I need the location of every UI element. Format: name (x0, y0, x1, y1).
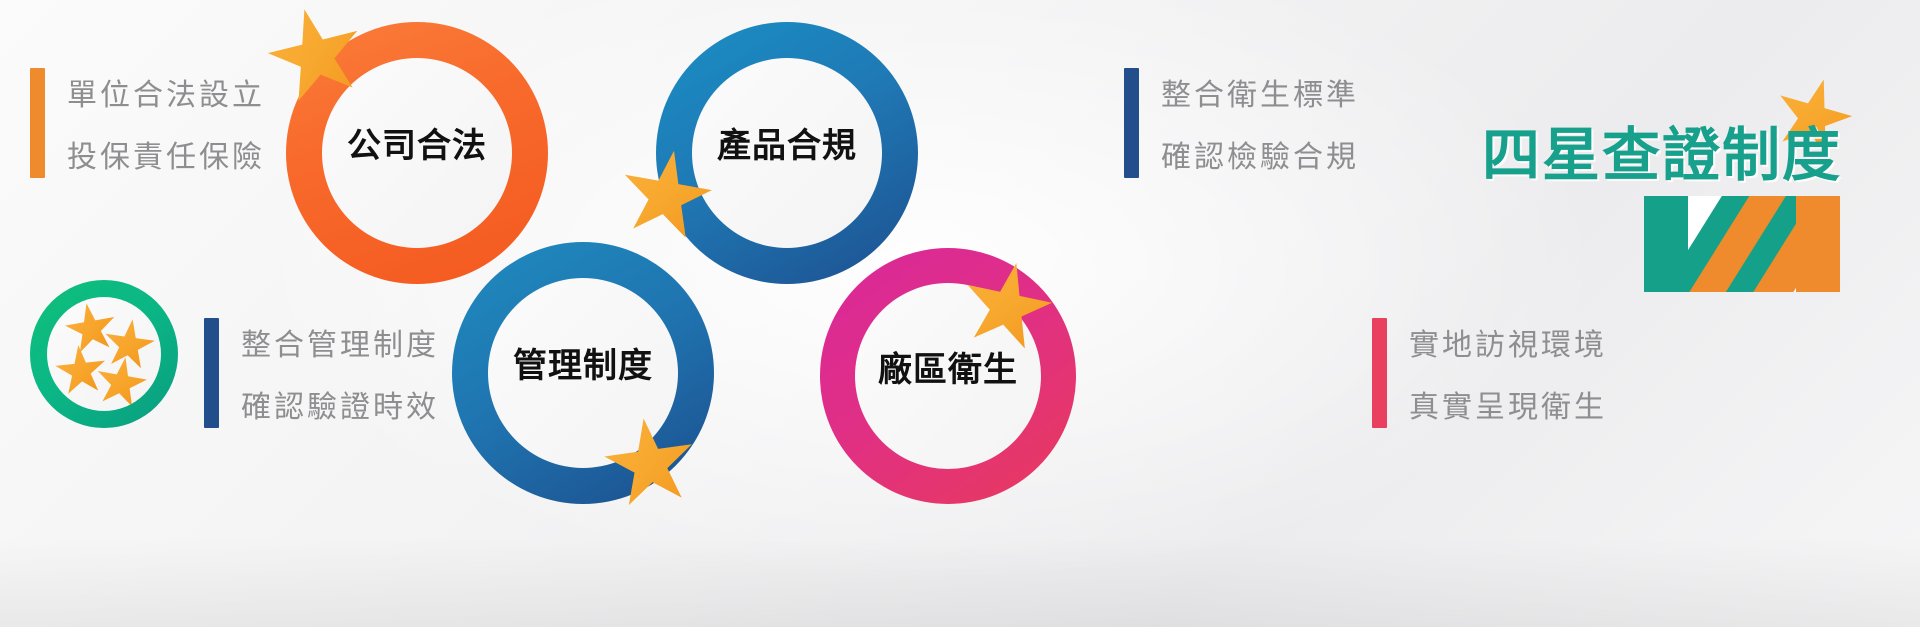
text-line: 實地訪視環境 (1409, 320, 1607, 364)
ring-label-product-text: 產品合規 (656, 118, 918, 167)
text-block-company: 單位合法設立 投保責任保險 (30, 68, 265, 178)
accent-bar-management (204, 318, 219, 428)
text-line: 單位合法設立 (67, 70, 265, 114)
infographic-canvas: 公司合法 產品合規 管理制度 廠區衛生 單位合法設立 投保責任保險 整合衛生標準… (0, 0, 1920, 627)
accent-bar-product (1124, 68, 1139, 178)
accent-bar-hygiene (1372, 318, 1387, 428)
ring-label-hygiene-text: 廠區衛生 (820, 342, 1076, 391)
ring-label-company: 公司合法 (286, 118, 548, 167)
text-line: 確認驗證時效 (241, 382, 439, 426)
text-block-hygiene-lines: 實地訪視環境 真實呈現衛生 (1409, 318, 1607, 428)
text-block-management: 整合管理制度 確認驗證時效 (204, 318, 439, 428)
text-block-management-lines: 整合管理制度 確認驗證時效 (241, 318, 439, 428)
ring-label-hygiene: 廠區衛生 (820, 342, 1076, 391)
text-line: 真實呈現衛生 (1409, 382, 1607, 426)
page-title: 四星查證制度 (1482, 108, 1842, 192)
background-bottom-shadow (0, 537, 1920, 627)
ring-label-product: 產品合規 (656, 118, 918, 167)
ring-label-management-text: 管理制度 (452, 338, 714, 387)
logo-left-bar (1644, 196, 1688, 292)
text-block-product-lines: 整合衛生標準 確認檢驗合規 (1161, 68, 1359, 178)
text-block-company-lines: 單位合法設立 投保責任保險 (67, 68, 265, 178)
ring-label-company-text: 公司合法 (286, 118, 548, 167)
accent-bar-company (30, 68, 45, 178)
text-block-hygiene: 實地訪視環境 真實呈現衛生 (1372, 318, 1607, 428)
four-star-badge (30, 280, 178, 428)
text-line: 整合衛生標準 (1161, 70, 1359, 114)
text-line: 投保責任保險 (67, 132, 265, 176)
text-line: 整合管理制度 (241, 320, 439, 364)
star-icon (61, 299, 121, 359)
text-line: 確認檢驗合規 (1161, 132, 1359, 176)
logo-diagonal-stripes (1688, 196, 1796, 292)
four-star-certification-logo (1644, 196, 1840, 292)
star-icon (100, 316, 159, 375)
text-block-product: 整合衛生標準 確認檢驗合規 (1124, 68, 1359, 178)
ring-label-management: 管理制度 (452, 338, 714, 387)
logo-right-bar (1796, 196, 1840, 292)
four-star-badge-inner (47, 297, 161, 411)
